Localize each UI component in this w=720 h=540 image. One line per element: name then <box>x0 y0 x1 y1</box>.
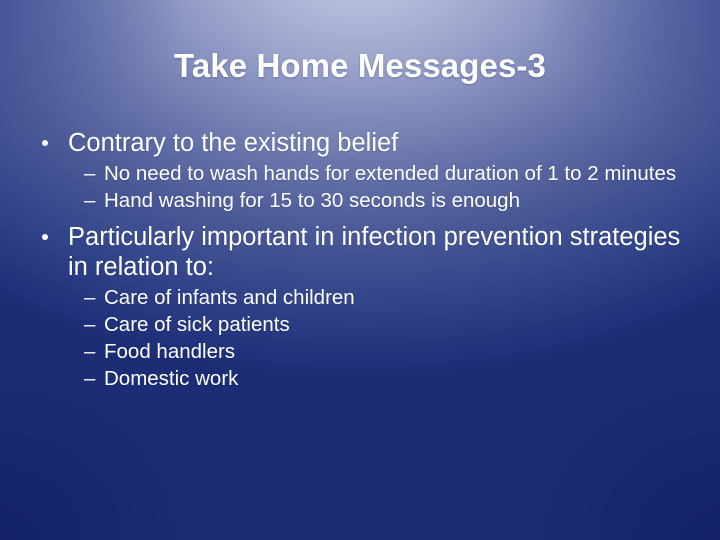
dash-bullet-icon: – <box>84 311 95 338</box>
dash-bullet-icon: – <box>84 338 95 365</box>
slide-content: Take Home Messages-3 Contrary to the exi… <box>0 0 720 540</box>
bullet-level2: – No need to wash hands for extended dur… <box>38 160 694 187</box>
sub-bullet-list: – No need to wash hands for extended dur… <box>38 160 694 214</box>
bullet-level1-label: Particularly important in infection prev… <box>68 223 680 281</box>
bullet-level2-label: Care of infants and children <box>104 286 355 309</box>
bullet-level2-label: Food handlers <box>104 340 235 363</box>
round-bullet-icon <box>42 140 48 146</box>
bullet-group: Contrary to the existing belief – No nee… <box>38 128 694 214</box>
dash-bullet-icon: – <box>84 365 95 392</box>
bullet-level1: Particularly important in infection prev… <box>38 222 694 282</box>
bullet-level2-label: Hand washing for 15 to 30 seconds is eno… <box>104 189 520 212</box>
bullet-level1: Contrary to the existing belief <box>38 128 694 158</box>
presentation-slide: Take Home Messages-3 Contrary to the exi… <box>0 0 720 540</box>
bullet-level2: – Hand washing for 15 to 30 seconds is e… <box>38 187 694 214</box>
dash-bullet-icon: – <box>84 284 95 311</box>
slide-body: Contrary to the existing belief – No nee… <box>38 128 694 392</box>
dash-bullet-icon: – <box>84 160 95 187</box>
round-bullet-icon <box>42 234 48 240</box>
bullet-level1-label: Contrary to the existing belief <box>68 129 398 157</box>
group-spacer <box>38 214 694 222</box>
bullet-level2-label: Domestic work <box>104 367 238 390</box>
bullet-level2-label: Care of sick patients <box>104 313 290 336</box>
bullet-level2: – Food handlers <box>38 338 694 365</box>
dash-bullet-icon: – <box>84 187 95 214</box>
bullet-level2-label: No need to wash hands for extended durat… <box>104 162 676 185</box>
sub-bullet-list: – Care of infants and children – Care of… <box>38 284 694 392</box>
bullet-level2: – Care of sick patients <box>38 311 694 338</box>
bullet-level2: – Domestic work <box>38 365 694 392</box>
bullet-group: Particularly important in infection prev… <box>38 222 694 392</box>
bullet-level2: – Care of infants and children <box>38 284 694 311</box>
slide-title: Take Home Messages-3 <box>0 46 720 86</box>
